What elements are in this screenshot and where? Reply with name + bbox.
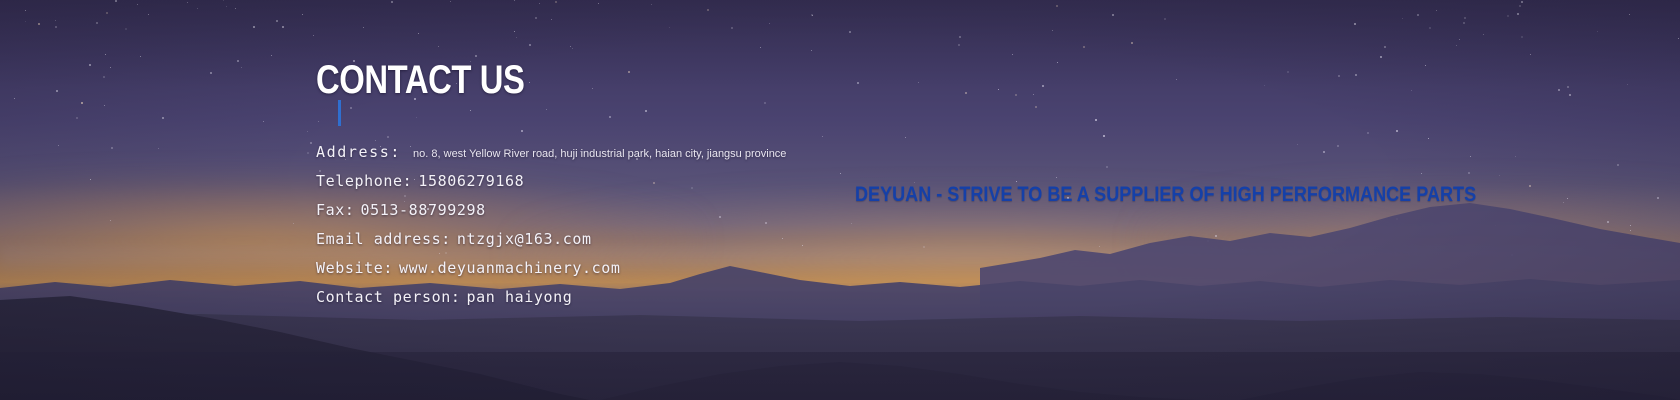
contact-row-label: Fax:	[316, 201, 355, 219]
contact-row-label: Address:	[316, 143, 401, 161]
contact-row-label: Email address:	[316, 230, 451, 248]
contact-row-value: ntzgjx@163.com	[457, 230, 592, 248]
company-tagline: DEYUAN - STRIVE TO BE A SUPPLIER OF HIGH…	[855, 183, 1476, 207]
contact-row-value: no. 8, west Yellow River road, huji indu…	[413, 148, 786, 160]
contact-row-value: 15806279168	[418, 172, 524, 190]
contact-row: Fax:0513-88799298	[316, 201, 786, 230]
page-title: CONTACT US	[316, 58, 524, 102]
contact-row: Email address:ntzgjx@163.com	[316, 230, 786, 259]
contact-row-label: Website:	[316, 259, 393, 277]
contact-row: Website:www.deyuanmachinery.com	[316, 259, 786, 288]
contact-row-label: Telephone:	[316, 172, 412, 190]
contact-row-label: Contact person:	[316, 288, 460, 306]
contact-row: Contact person:pan haiyong	[316, 288, 786, 317]
contact-row: Telephone:15806279168	[316, 172, 786, 201]
contact-row: Address:no. 8, west Yellow River road, h…	[316, 143, 786, 172]
accent-divider	[338, 100, 341, 126]
contact-info-list: Address:no. 8, west Yellow River road, h…	[316, 143, 786, 317]
contact-row-value: pan haiyong	[466, 288, 572, 306]
contact-row-value: 0513-88799298	[361, 201, 486, 219]
contact-row-value: www.deyuanmachinery.com	[399, 259, 621, 277]
contact-banner: CONTACT US Address:no. 8, west Yellow Ri…	[0, 0, 1680, 400]
